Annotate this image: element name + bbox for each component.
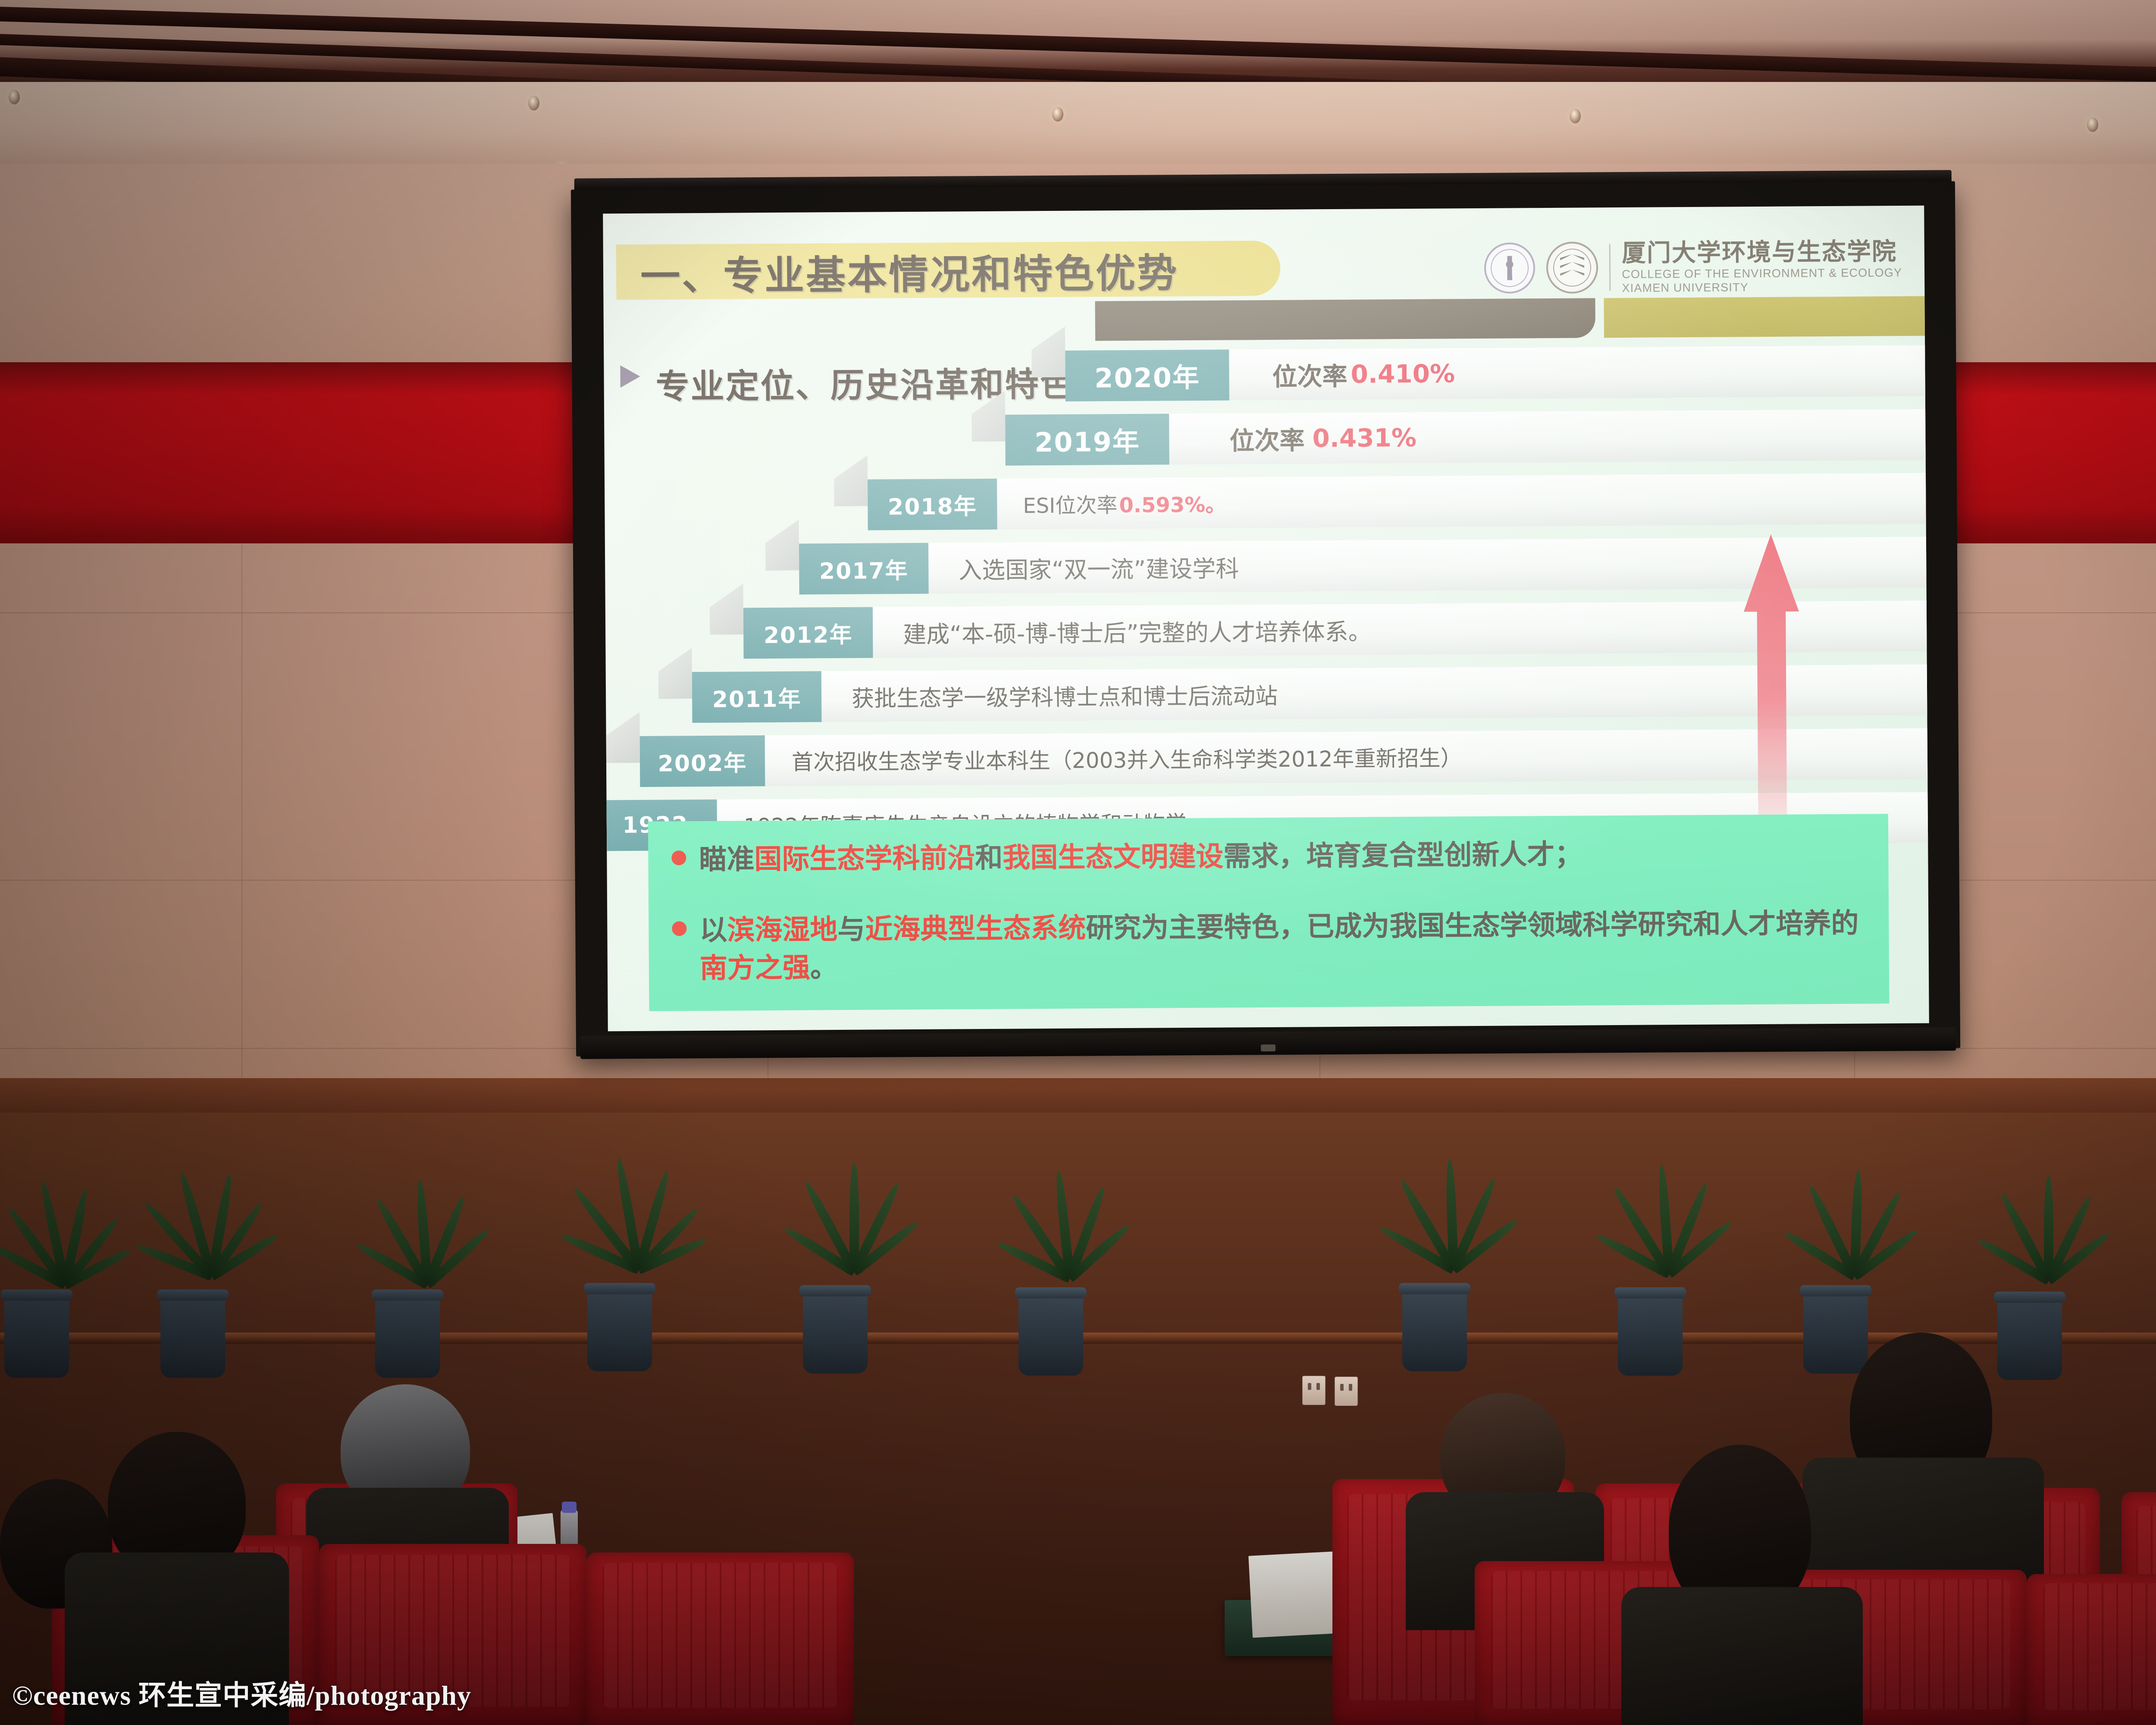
downlight-icon bbox=[9, 90, 20, 104]
college-chevron-icon bbox=[1546, 241, 1598, 294]
potted-plant bbox=[1371, 1089, 1526, 1270]
timeline-step: 2002年 首次招收生态学专业本科生（2003并入生命科学类2012年重新招生） bbox=[640, 728, 1929, 787]
presentation-slide: 一、专业基本情况和特色优势 厦门大学环境与生态学院 COLLEGE OF THE… bbox=[603, 206, 1929, 1032]
summary-bullet-text: 以滨海湿地与近海典型生态系统研究为主要特色，已成为我国生态学领域科学研究和人才培… bbox=[699, 904, 1872, 988]
timeline-rate: 位次率0.431% bbox=[1229, 412, 1416, 464]
timeline-year: 2011年 bbox=[692, 671, 822, 723]
potted-plant bbox=[1772, 1095, 1927, 1276]
lecture-hall-scene: 2021年教…训（厦门） bbox=[0, 0, 2156, 1725]
power-outlet-icon bbox=[1302, 1376, 1326, 1405]
seg: 瞄准 bbox=[699, 844, 754, 876]
ceiling-soffit bbox=[0, 82, 2156, 172]
timeline-text: 建成“本‑硕‑博‑博士后”完整的人才培养体系。 bbox=[903, 604, 1372, 658]
plant-pot bbox=[587, 1287, 652, 1371]
timeline-text: 获批生态学一级学科博士点和博士后流动站 bbox=[852, 668, 1278, 722]
seg-hl: 滨海湿地 bbox=[727, 914, 837, 947]
org-name-cn: 厦门大学环境与生态学院 bbox=[1622, 238, 1902, 268]
timeline-text: 首次招收生态学专业本科生（2003并入生命科学类2012年重新招生） bbox=[792, 731, 1462, 786]
seg: 以 bbox=[699, 915, 727, 947]
org-name-block: 厦门大学环境与生态学院 COLLEGE OF THE ENVIRONMENT &… bbox=[1622, 238, 1902, 295]
plant-pot bbox=[1803, 1289, 1868, 1374]
plant-pot bbox=[4, 1294, 69, 1378]
timeline-year: 2002年 bbox=[640, 735, 765, 787]
power-outlet-icon bbox=[1335, 1377, 1358, 1406]
plant-pot bbox=[803, 1289, 868, 1374]
auditorium-seat[interactable] bbox=[586, 1552, 854, 1725]
timeline-year: 2018年 bbox=[868, 479, 997, 530]
timeline-text: 入选国家“双一流”建设学科 bbox=[959, 541, 1239, 593]
downlight-icon bbox=[2087, 117, 2098, 132]
potted-plant bbox=[129, 1095, 285, 1276]
potted-plant bbox=[1966, 1100, 2122, 1281]
seg: 和 bbox=[975, 842, 1003, 874]
summary-bullet: 瞄准国际生态学科前沿和我国生态文明建设需求，培育复合型创新人才； bbox=[671, 834, 1871, 879]
potted-plant bbox=[1587, 1093, 1742, 1274]
timeline-text-value: 0.593%。 bbox=[1119, 488, 1226, 519]
screen-surface: 一、专业基本情况和特色优势 厦门大学环境与生态学院 COLLEGE OF THE… bbox=[603, 206, 1929, 1032]
decor-bar-dark bbox=[1095, 298, 1595, 341]
potted-plant bbox=[556, 1089, 711, 1270]
org-name-en-1: COLLEGE OF THE ENVIRONMENT & ECOLOGY bbox=[1622, 266, 1902, 282]
wall-seam bbox=[241, 543, 242, 1082]
logo-divider bbox=[1609, 244, 1611, 291]
potted-plant bbox=[987, 1098, 1143, 1279]
org-name-en-2: XIAMEN UNIVERSITY bbox=[1622, 280, 1902, 295]
photo-watermark: ©ceenews 环生宣中采编/photography bbox=[12, 1673, 471, 1713]
potted-plant bbox=[772, 1091, 927, 1272]
timeline-year: 2017年 bbox=[799, 543, 929, 595]
potted-plant bbox=[2134, 1121, 2156, 1302]
timeline-text: ESI位次率0.593%。 bbox=[1023, 477, 1226, 530]
rate-value: 0.410% bbox=[1351, 359, 1455, 389]
bottle-cap bbox=[562, 1502, 577, 1513]
seg: 。 bbox=[810, 952, 838, 984]
downlight-icon bbox=[1052, 107, 1063, 122]
auditorium-seat[interactable] bbox=[2027, 1574, 2156, 1725]
screen-brand-badge bbox=[1261, 1044, 1275, 1051]
audience-shoulders bbox=[1621, 1587, 1863, 1725]
timeline-year: 2012年 bbox=[743, 607, 873, 659]
timeline-year: 2019年 bbox=[1005, 414, 1169, 465]
rate-label-text: 位次率 bbox=[1272, 356, 1347, 393]
plant-pot bbox=[1997, 1296, 2062, 1380]
plant-pot bbox=[375, 1294, 440, 1378]
seal-inner-mark bbox=[1498, 256, 1522, 280]
timeline-rate: 位次率0.410% bbox=[1272, 348, 1455, 400]
downlight-icon bbox=[1570, 109, 1581, 123]
slide-title: 一、专业基本情况和特色优势 bbox=[640, 245, 1288, 297]
seg: 与 bbox=[837, 914, 865, 946]
decor-bar-khaki bbox=[1604, 296, 1925, 338]
plant-pot bbox=[1402, 1287, 1467, 1371]
summary-bullet: 以滨海湿地与近海典型生态系统研究为主要特色，已成为我国生态学领域科学研究和人才培… bbox=[672, 904, 1872, 988]
seg-hl: 近海典型生态系统 bbox=[865, 913, 1086, 946]
timeline-step: 2019年 位次率0.431% bbox=[1005, 409, 1928, 466]
plant-pot bbox=[1018, 1292, 1083, 1376]
timeline-step: 2020年 位次率0.410% bbox=[1065, 345, 1928, 401]
potted-plant bbox=[0, 1104, 138, 1285]
seg-hl: 南方之强 bbox=[700, 952, 810, 985]
seg: 研究为主要特色，已成为我国生态学领域科学研究和人才培养的 bbox=[1086, 908, 1858, 944]
plant-pot bbox=[1618, 1292, 1683, 1376]
timeline-year: 2020年 bbox=[1065, 350, 1229, 401]
rate-label-text: 位次率 bbox=[1229, 420, 1305, 457]
seg: 需求，培育复合型创新人才； bbox=[1223, 839, 1582, 873]
bullet-dot-icon bbox=[671, 850, 686, 865]
timeline-step: 2011年 获批生态学一级学科博士点和博士后流动站 bbox=[692, 665, 1929, 723]
seg-hl: 国际生态学科前沿 bbox=[754, 842, 975, 875]
university-seal-icon bbox=[1484, 242, 1536, 294]
potted-plant bbox=[345, 1104, 500, 1285]
downlight-icon bbox=[528, 96, 539, 110]
rate-value: 0.431% bbox=[1312, 423, 1416, 453]
seg-hl: 我国生态文明建设 bbox=[1003, 841, 1223, 874]
org-logo-row: 厦门大学环境与生态学院 COLLEGE OF THE ENVIRONMENT &… bbox=[1484, 238, 1902, 296]
timeline-text-prefix: ESI位次率 bbox=[1023, 488, 1117, 519]
timeline-step: 2018年 ESI位次率0.593%。 bbox=[868, 473, 1929, 530]
summary-bullet-text: 瞄准国际生态学科前沿和我国生态文明建设需求，培育复合型创新人才； bbox=[699, 836, 1583, 879]
bullet-dot-icon bbox=[672, 921, 686, 936]
summary-box: 瞄准国际生态学科前沿和我国生态文明建设需求，培育复合型创新人才； 以滨海湿地与近… bbox=[648, 814, 1890, 1011]
projection-screen[interactable]: 一、专业基本情况和特色优势 厦门大学环境与生态学院 COLLEGE OF THE… bbox=[571, 181, 1960, 1057]
plant-pot bbox=[160, 1294, 225, 1378]
chevron-stack-icon bbox=[1560, 254, 1584, 281]
